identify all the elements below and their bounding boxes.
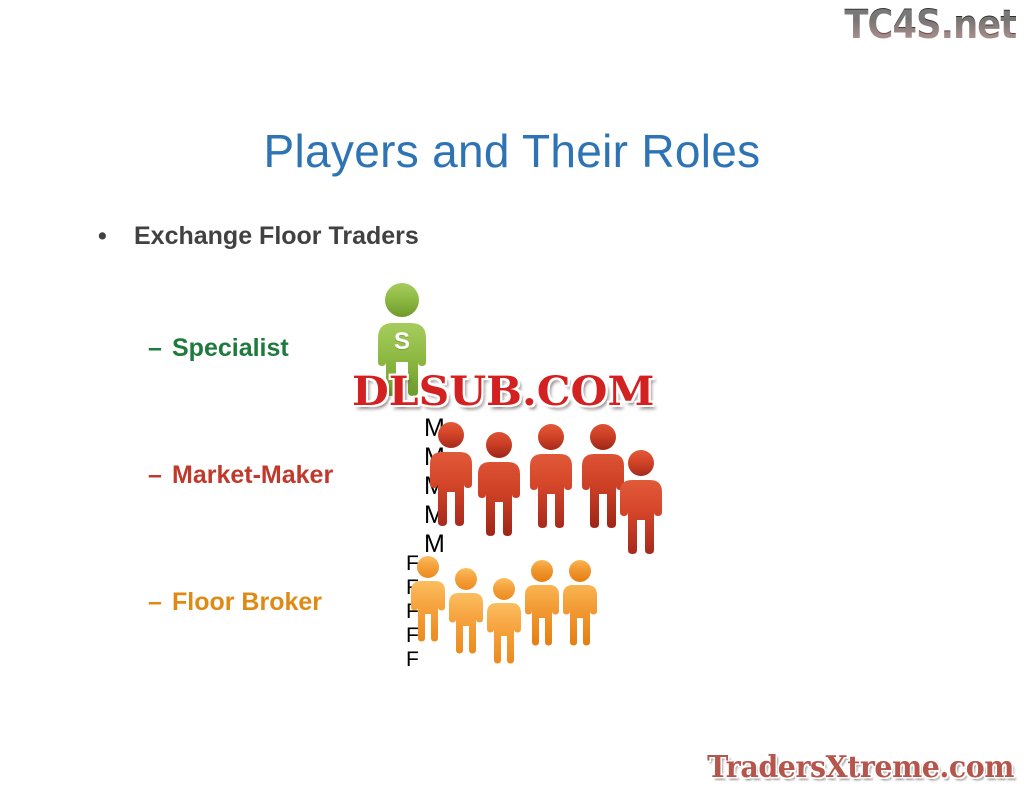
watermark-dlsub: DLSUB.COM xyxy=(352,368,654,415)
person-group-icon xyxy=(424,414,680,560)
bullet-specialist: –Specialist xyxy=(148,334,289,363)
bullet-floor-broker: –Floor Broker xyxy=(148,588,322,617)
watermark-tc4s: TC4S.net xyxy=(844,2,1016,48)
bullet-market-maker: –Market-Maker xyxy=(148,461,333,490)
page-title: Players and Their Roles xyxy=(0,124,1024,178)
person-group-icon xyxy=(406,552,602,664)
bullet-exchange-floor-traders: •Exchange Floor Traders xyxy=(98,222,419,251)
floor-broker-figure-group: F F F F F xyxy=(406,552,602,664)
bullet-dot-icon: • xyxy=(98,222,134,251)
bullet-label-floor-broker: Floor Broker xyxy=(172,588,322,616)
bullet-label-specialist: Specialist xyxy=(172,334,289,362)
dash-icon: – xyxy=(148,588,172,617)
bullet-label-market-maker: Market-Maker xyxy=(172,461,333,489)
dash-icon: – xyxy=(148,461,172,490)
watermark-tradersxtreme: TradersXtreme.com xyxy=(707,750,1014,785)
slide-canvas: TC4S.net Players and Their Roles •Exchan… xyxy=(0,0,1024,791)
dash-icon: – xyxy=(148,334,172,363)
market-maker-figure-group: M M M M M xyxy=(424,414,680,560)
bullet-label-exchange-floor-traders: Exchange Floor Traders xyxy=(134,222,419,250)
